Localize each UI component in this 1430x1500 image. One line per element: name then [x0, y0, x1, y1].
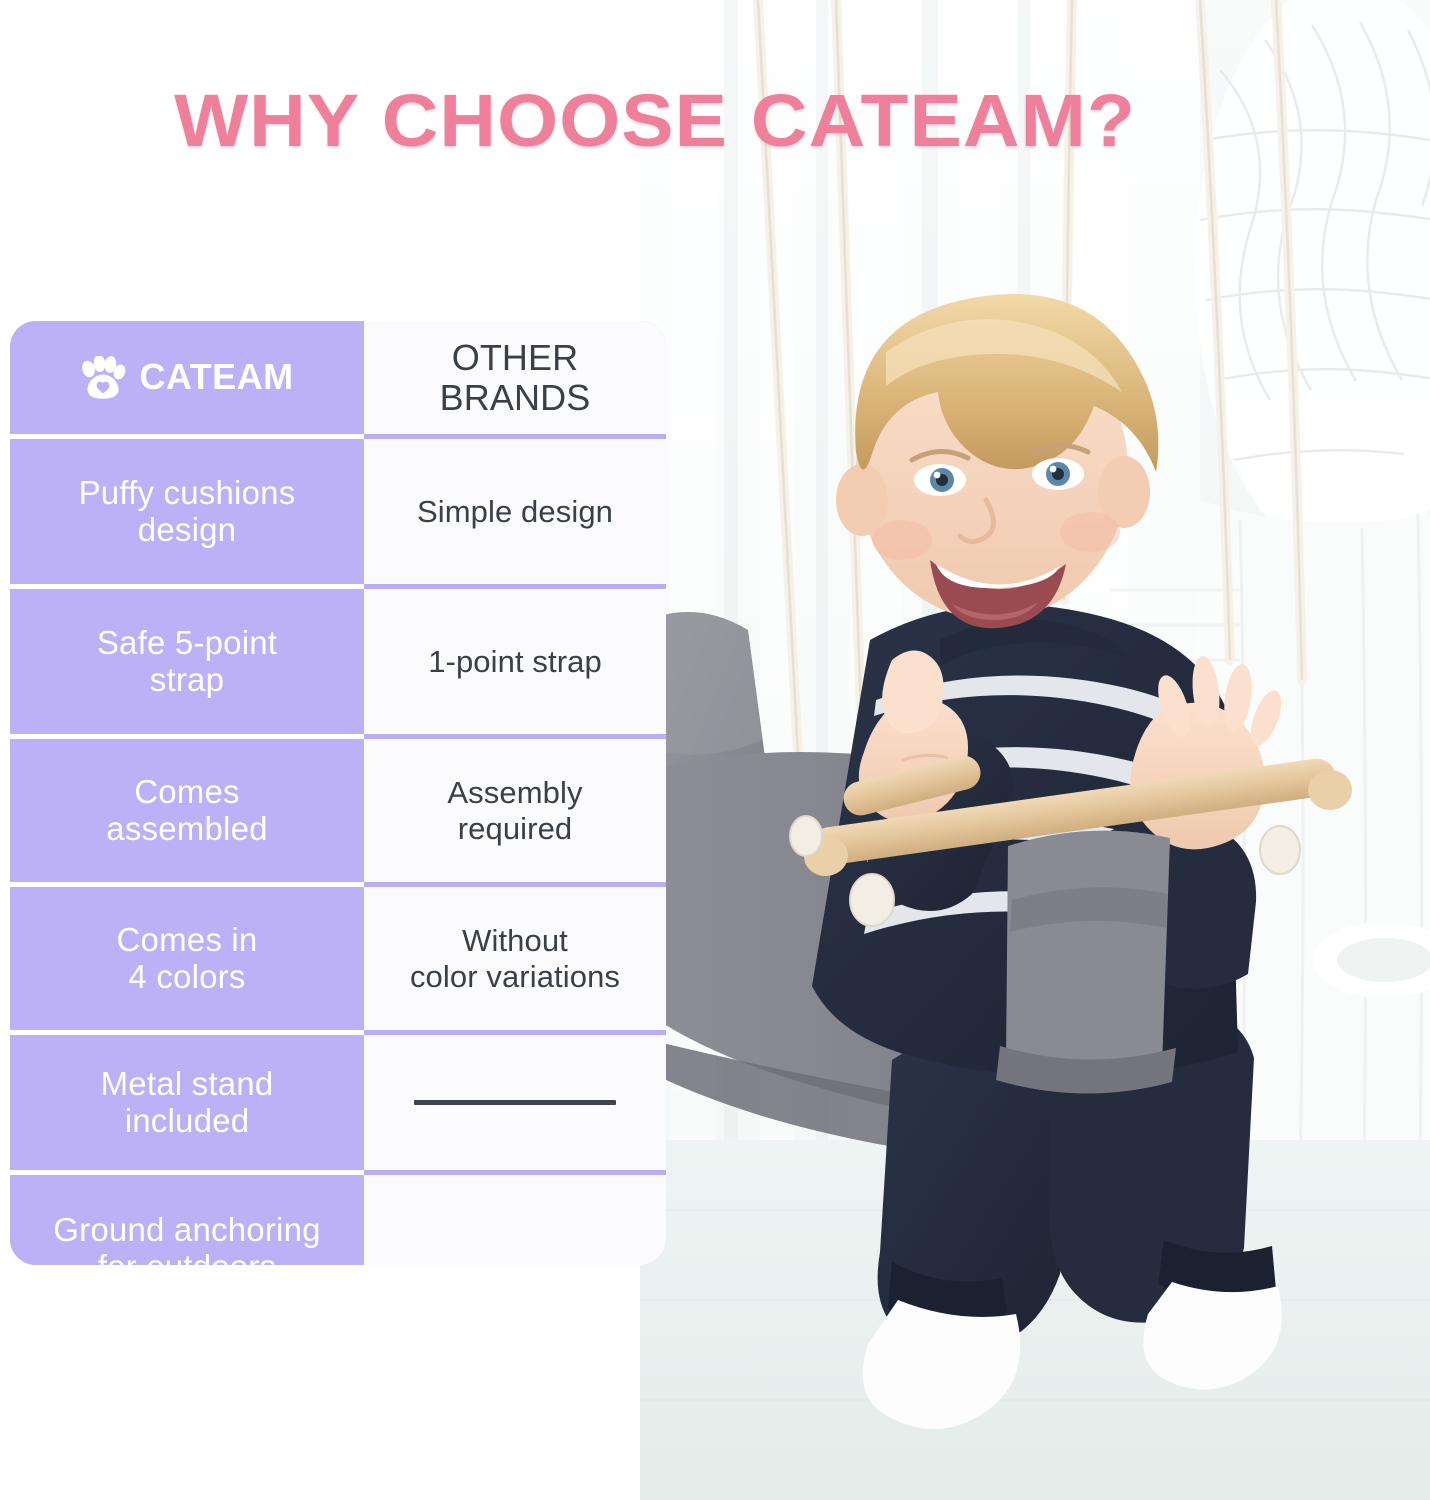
row-other-text: Without color variations — [410, 923, 620, 994]
row-other-value: Simple design — [364, 439, 666, 589]
row-other-line2: color variations — [410, 959, 620, 994]
row-cateam-text: Puffy cushions design — [79, 475, 296, 549]
row-other-value: Assembly required — [364, 739, 666, 887]
cateam-logo-lockup: CATEAM — [80, 356, 293, 400]
row-cateam-text: Comes assembled — [106, 774, 267, 848]
other-brands-line1: OTHER — [452, 337, 579, 378]
table-row: Metal stand included — [10, 1035, 666, 1175]
row-other-value: Without color variations — [364, 887, 666, 1035]
row-other-line2: required — [458, 811, 573, 846]
row-other-value — [364, 1035, 666, 1175]
row-cateam-text: Comes in 4 colors — [117, 922, 258, 996]
paw-print-icon — [80, 356, 126, 400]
other-brands-line2: BRANDS — [440, 377, 591, 418]
cateam-brand-label: CATEAM — [139, 357, 293, 397]
row-other-line1: Without — [462, 923, 568, 958]
row-cateam-text: Safe 5-point strap — [97, 625, 277, 699]
product-photo — [640, 0, 1430, 1500]
row-cateam-line2: for outdoors — [98, 1248, 277, 1265]
row-cateam-line1: Safe 5-point — [97, 624, 277, 661]
header-cell-cateam: CATEAM — [10, 321, 364, 439]
table-row: Ground anchoring for outdoors included — [10, 1175, 666, 1265]
row-other-line1: 1-point strap — [428, 644, 602, 679]
row-cateam-text: Ground anchoring for outdoors included — [53, 1212, 320, 1265]
row-cateam-line2: design — [138, 511, 236, 548]
row-cateam-line2: included — [125, 1102, 250, 1139]
row-cateam-line1: Comes — [134, 773, 240, 810]
comparison-table-body: CATEAM OTHER BRANDS Puffy cushions desig… — [10, 321, 666, 1265]
row-cateam-line1: Metal stand — [101, 1065, 274, 1102]
table-row: Safe 5-point strap 1-point strap — [10, 589, 666, 739]
row-other-text: Simple design — [417, 494, 613, 530]
row-cateam-value: Safe 5-point strap — [10, 589, 364, 739]
other-brands-label: OTHER BRANDS — [440, 338, 591, 417]
row-cateam-line1: Comes in — [117, 921, 258, 958]
table-header-row: CATEAM OTHER BRANDS — [10, 321, 666, 439]
table-row: Comes in 4 colors Without color variatio… — [10, 887, 666, 1035]
row-other-text: Assembly required — [447, 775, 582, 846]
row-other-line1: Simple design — [417, 494, 613, 529]
row-other-value — [364, 1175, 666, 1265]
row-cateam-value: Ground anchoring for outdoors included — [10, 1175, 364, 1265]
page-title: WHY CHOOSE CATEAM? — [0, 78, 1349, 163]
row-cateam-value: Puffy cushions design — [10, 439, 364, 589]
photo-illustration — [640, 0, 1430, 1500]
header-cell-other-brands: OTHER BRANDS — [364, 321, 666, 439]
row-cateam-value: Metal stand included — [10, 1035, 364, 1175]
row-cateam-line1: Puffy cushions — [79, 474, 296, 511]
row-other-line1: Assembly — [447, 775, 582, 810]
row-cateam-value: Comes assembled — [10, 739, 364, 887]
not-available-dash-icon — [414, 1100, 616, 1105]
row-cateam-value: Comes in 4 colors — [10, 887, 364, 1035]
row-other-value: 1-point strap — [364, 589, 666, 739]
row-cateam-line2: assembled — [106, 810, 267, 847]
row-cateam-line2: 4 colors — [128, 958, 245, 995]
table-row: Comes assembled Assembly required — [10, 739, 666, 887]
row-cateam-line2: strap — [150, 661, 224, 698]
table-row: Puffy cushions design Simple design — [10, 439, 666, 589]
row-cateam-text: Metal stand included — [101, 1066, 274, 1140]
comparison-table: CATEAM OTHER BRANDS Puffy cushions desig… — [10, 321, 666, 1265]
row-cateam-line1: Ground anchoring — [53, 1211, 320, 1248]
row-other-text: 1-point strap — [428, 644, 602, 680]
